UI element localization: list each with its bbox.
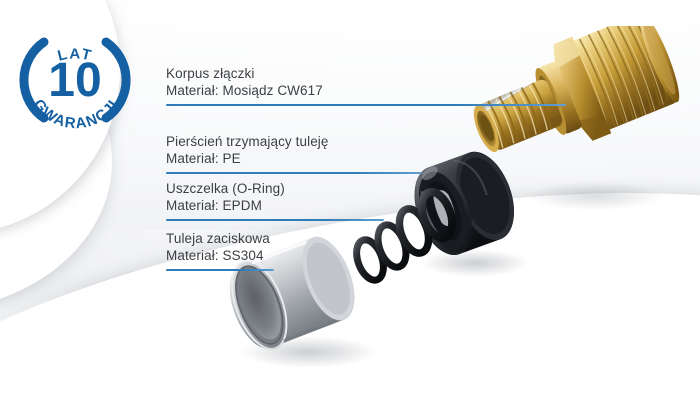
callout-title: Tuleja zaciskowa [166, 231, 270, 248]
callout-leader-line [166, 269, 274, 271]
callout-tuleja-zaciskowa: Tuleja zaciskowa Materiał: SS304 [166, 231, 270, 264]
callout-material: Materiał: SS304 [166, 248, 270, 265]
guarantee-badge: LAT GWARANCJI 10 [14, 18, 136, 142]
callout-korpus-zlaczki: Korpus złączki Materiał: Mosiądz CW617 [166, 66, 323, 99]
brass-barbed-shank [470, 78, 564, 155]
callout-material: Materiał: Mosiądz CW617 [166, 83, 323, 100]
callout-pierscien-trzymajacy: Pierścień trzymający tuleję Materiał: PE [166, 134, 329, 167]
callout-leader-line [166, 104, 566, 106]
o-ring-4 [416, 188, 456, 242]
callout-material: Materiał: EPDM [166, 198, 285, 215]
callout-title: Korpus złączki [166, 66, 323, 83]
callout-leader-line [166, 172, 422, 174]
callout-leader-line [166, 219, 384, 221]
callout-uszczelka-oring: Uszczelka (O-Ring) Materiał: EPDM [166, 181, 285, 214]
epdm-o-rings [352, 186, 456, 284]
badge-number: 10 [48, 54, 101, 107]
product-exploded-view-graphic: LAT GWARANCJI 10 [0, 0, 700, 404]
callout-material: Materiał: PE [166, 151, 329, 168]
callout-title: Pierścień trzymający tuleję [166, 134, 329, 151]
callout-title: Uszczelka (O-Ring) [166, 181, 285, 198]
